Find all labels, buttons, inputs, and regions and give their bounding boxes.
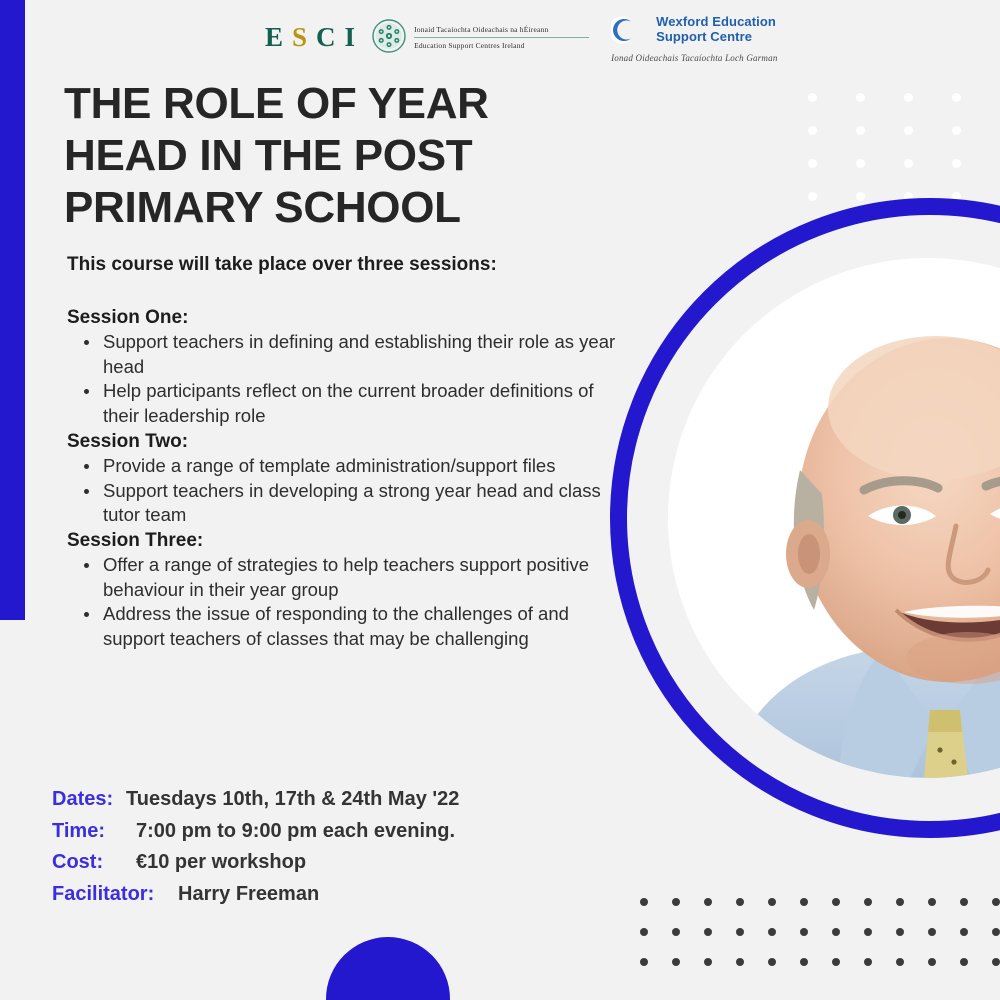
session-bullets: Support teachers in defining and establi… <box>67 330 627 428</box>
decorative-dot <box>856 159 865 168</box>
wexford-name-line2: Support Centre <box>656 30 776 45</box>
session-bullet: Offer a range of strategies to help teac… <box>101 553 627 602</box>
cost-label: Cost: <box>52 847 136 879</box>
decorative-dot <box>640 898 648 906</box>
dates-value: Tuesdays 10th, 17th & 24th May '22 <box>126 784 459 816</box>
decorative-dot <box>928 898 936 906</box>
esci-wordmark: ESCI <box>265 14 364 51</box>
decorative-dot <box>928 928 936 936</box>
decorative-dot <box>640 958 648 966</box>
decorative-dot <box>768 898 776 906</box>
decorative-dot <box>736 958 744 966</box>
left-accent-bar <box>0 0 25 620</box>
decorative-dot <box>904 126 913 135</box>
decorative-dot <box>960 928 968 936</box>
wexford-crescent-icon <box>611 12 647 48</box>
decorative-dot <box>672 928 680 936</box>
decorative-dot <box>736 928 744 936</box>
decorative-dot <box>808 159 817 168</box>
facilitator-label: Facilitator: <box>52 879 178 911</box>
decorative-dot <box>856 126 865 135</box>
session-block: Session One: Support teachers in definin… <box>67 305 627 429</box>
decorative-dot <box>952 93 961 102</box>
time-value: 7:00 pm to 9:00 pm each evening. <box>136 816 455 848</box>
decorative-dot <box>864 898 872 906</box>
detail-row-cost: Cost: €10 per workshop <box>52 847 459 879</box>
intro-text: This course will take place over three s… <box>67 254 627 276</box>
time-label: Time: <box>52 816 136 848</box>
session-bullet: Address the issue of responding to the c… <box>101 602 627 651</box>
detail-row-dates: Dates: Tuesdays 10th, 17th & 24th May '2… <box>52 784 459 816</box>
wexford-irish-line: Ionad Oideachais Tacaíochta Loch Garman <box>611 53 777 63</box>
decorative-dot <box>864 958 872 966</box>
decorative-dot <box>856 192 865 201</box>
course-details: Dates: Tuesdays 10th, 17th & 24th May '2… <box>52 784 459 910</box>
decorative-dot <box>640 928 648 936</box>
detail-row-time: Time: 7:00 pm to 9:00 pm each evening. <box>52 816 459 848</box>
decorative-dot <box>896 928 904 936</box>
decorative-dot <box>768 928 776 936</box>
wexford-logo: Wexford Education Support Centre Ionad O… <box>611 12 777 63</box>
poster-canvas: ESCI <box>0 0 1000 1000</box>
dates-label: Dates: <box>52 784 126 816</box>
decorative-dot <box>904 159 913 168</box>
decorative-dot <box>864 928 872 936</box>
esci-logo: ESCI <box>265 12 589 53</box>
wexford-name-line1: Wexford Education <box>656 15 776 30</box>
decorative-dot <box>672 958 680 966</box>
decorative-dot <box>800 928 808 936</box>
cost-value: €10 per workshop <box>136 847 306 879</box>
decorative-dot <box>928 958 936 966</box>
decorative-dot <box>952 159 961 168</box>
decorative-dot <box>904 93 913 102</box>
sessions-list: Session One: Support teachers in definin… <box>67 305 627 651</box>
facilitator-value: Harry Freeman <box>178 879 319 911</box>
esci-celtic-circle-icon <box>372 19 406 53</box>
decorative-dot <box>896 898 904 906</box>
decorative-dot <box>992 928 1000 936</box>
decorative-dot <box>992 898 1000 906</box>
dot-grid-bottom-right <box>640 898 1000 988</box>
esci-divider <box>414 37 589 38</box>
detail-row-facilitator: Facilitator: Harry Freeman <box>52 879 459 911</box>
bottom-accent-circle <box>326 937 450 1000</box>
decorative-dot <box>808 93 817 102</box>
decorative-dot <box>856 93 865 102</box>
decorative-dot <box>704 958 712 966</box>
decorative-dot <box>808 126 817 135</box>
session-bullet: Provide a range of template administrati… <box>101 454 627 479</box>
decorative-dot <box>736 898 744 906</box>
wexford-name: Wexford Education Support Centre <box>656 15 776 45</box>
decorative-dot <box>952 126 961 135</box>
session-bullets: Offer a range of strategies to help teac… <box>67 553 627 651</box>
decorative-dot <box>832 898 840 906</box>
decorative-dot <box>832 958 840 966</box>
logo-row: ESCI <box>265 12 810 78</box>
decorative-dot <box>832 928 840 936</box>
decorative-dot <box>800 898 808 906</box>
esci-irish-line: Ionaid Tacaíochta Oideachais na hÉireann <box>414 25 589 34</box>
decorative-dot <box>896 958 904 966</box>
session-bullet: Support teachers in developing a strong … <box>101 479 627 528</box>
session-bullet: Support teachers in defining and establi… <box>101 330 627 379</box>
session-heading: Session Two: <box>67 429 627 454</box>
decorative-dot <box>960 898 968 906</box>
session-heading: Session One: <box>67 305 627 330</box>
esci-tagline: Ionaid Tacaíochta Oideachais na hÉireann… <box>414 15 589 50</box>
decorative-dot <box>808 192 817 201</box>
decorative-dot <box>704 928 712 936</box>
decorative-dot <box>768 958 776 966</box>
session-block: Session Two: Provide a range of template… <box>67 429 627 528</box>
session-bullets: Provide a range of template administrati… <box>67 454 627 528</box>
esci-english-line: Education Support Centres Ireland <box>414 41 589 50</box>
decorative-dot <box>704 898 712 906</box>
poster-title: THE ROLE OF YEAR HEAD IN THE POST PRIMAR… <box>64 78 584 234</box>
decorative-dot <box>960 958 968 966</box>
decorative-dot <box>672 898 680 906</box>
decorative-dot <box>992 958 1000 966</box>
session-block: Session Three: Offer a range of strategi… <box>67 528 627 652</box>
decorative-dot <box>800 958 808 966</box>
session-heading: Session Three: <box>67 528 627 553</box>
session-bullet: Help participants reflect on the current… <box>101 379 627 428</box>
